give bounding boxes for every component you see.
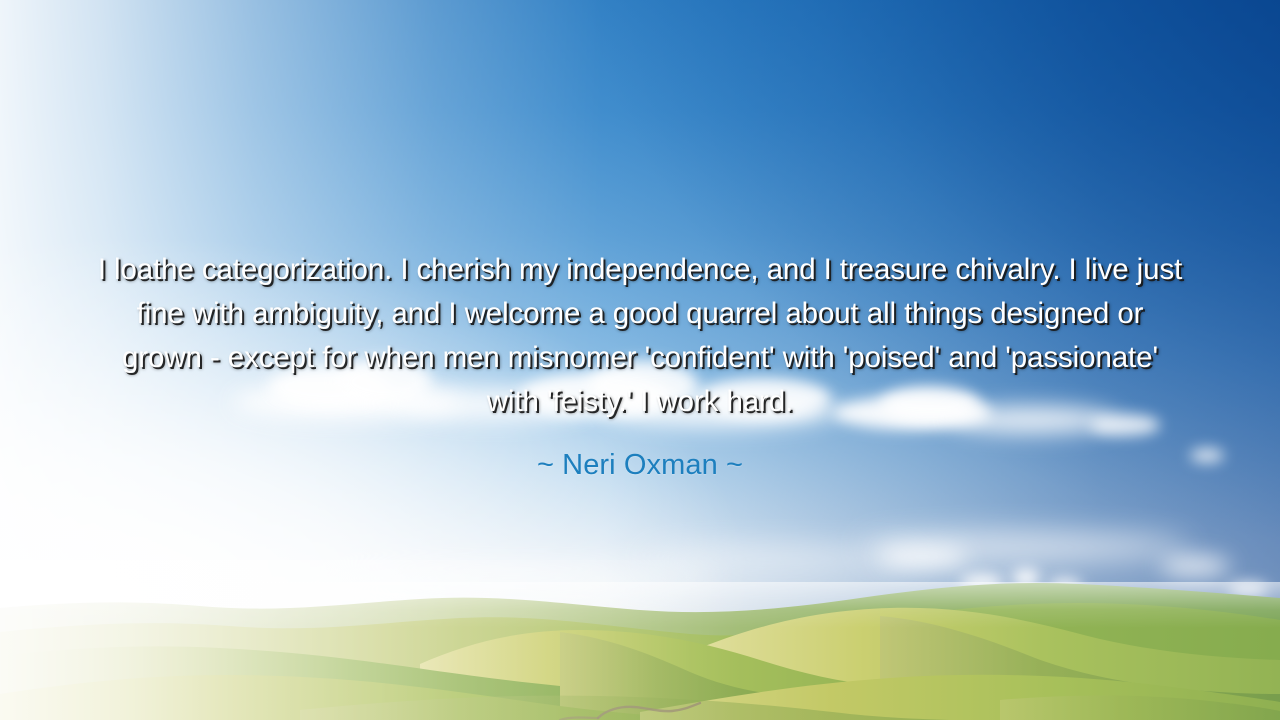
- quote-card: I loathe categorization. I cherish my in…: [0, 0, 1280, 720]
- hills-landscape: [0, 560, 1280, 720]
- quote-block: I loathe categorization. I cherish my in…: [0, 248, 1280, 484]
- quote-text: I loathe categorization. I cherish my in…: [96, 248, 1184, 424]
- quote-author: ~ Neri Oxman ~: [96, 446, 1184, 484]
